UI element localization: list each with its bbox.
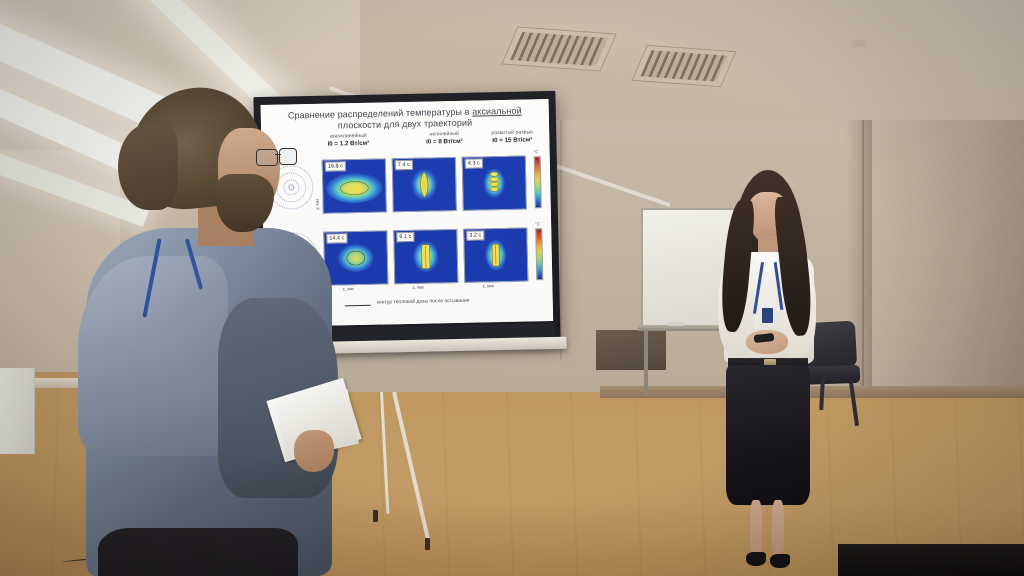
- colorbar-unit: °C: [535, 221, 540, 226]
- plot-panel-r2c1: 14.4 с: [323, 230, 388, 285]
- presenter-right: [706, 170, 826, 570]
- conference-room-photo: Сравнение распределений температуры в ак…: [0, 0, 1024, 576]
- x-axis-label: z, мм: [482, 283, 493, 288]
- glasses-icon: [256, 148, 298, 165]
- womans-legs: [746, 500, 790, 558]
- intensity-label: I0 = 15 Вт/см²: [469, 136, 553, 145]
- slide-title-underlined: аксиальной: [472, 106, 522, 117]
- presenter-left: [78, 88, 328, 576]
- mans-hair-side: [118, 124, 178, 210]
- legend-text: контур тепловой дозы после остывания: [377, 298, 470, 306]
- tripod-foot: [373, 510, 378, 522]
- smoke-detector-icon: [852, 40, 866, 47]
- low-cabinet: [596, 330, 666, 370]
- mans-lanyard: [148, 238, 208, 324]
- time-label: 3.2 с: [466, 230, 484, 240]
- time-label: 6.1 с: [396, 232, 414, 242]
- plot-panel-r1c2: 7.4 с: [392, 157, 457, 212]
- colorbar-row1: [534, 156, 542, 208]
- colorbar-row2: [535, 228, 543, 280]
- dark-table: [838, 544, 1024, 576]
- plot-panel-r1c3: 4.3 с: [462, 156, 527, 211]
- tripod-foot: [425, 538, 430, 550]
- plot-panel-r2c2: 6.1 с: [393, 229, 458, 284]
- time-label: 4.3 с: [465, 158, 483, 168]
- plot-panel-r1c1: 16.8 с: [322, 158, 387, 213]
- radiator: [0, 368, 35, 454]
- mans-beard: [216, 174, 274, 232]
- id-badge: [762, 308, 773, 323]
- whiteboard-leg: [644, 330, 648, 396]
- time-label: 7.4 с: [395, 160, 413, 170]
- mans-trousers: [98, 528, 298, 576]
- colorbar-unit: °C: [534, 149, 539, 154]
- plot-panel-r2c3: 3.2 с: [463, 227, 528, 282]
- ceiling-vent-icon: [501, 26, 617, 71]
- x-axis-label: z, мм: [412, 285, 423, 290]
- ceiling-vent-icon: [631, 45, 736, 87]
- time-label: 14.4 с: [326, 233, 347, 243]
- column-header-3: развитый разрыв I0 = 15 Вт/см²: [469, 129, 553, 145]
- x-axis-label: z, мм: [342, 286, 353, 291]
- slide-title-part2: плоскости для двух траекторий: [338, 118, 472, 131]
- marker-icon: [668, 322, 684, 326]
- mans-hand: [294, 430, 334, 472]
- womans-skirt: [726, 365, 810, 505]
- legend-line-sample: [345, 305, 371, 307]
